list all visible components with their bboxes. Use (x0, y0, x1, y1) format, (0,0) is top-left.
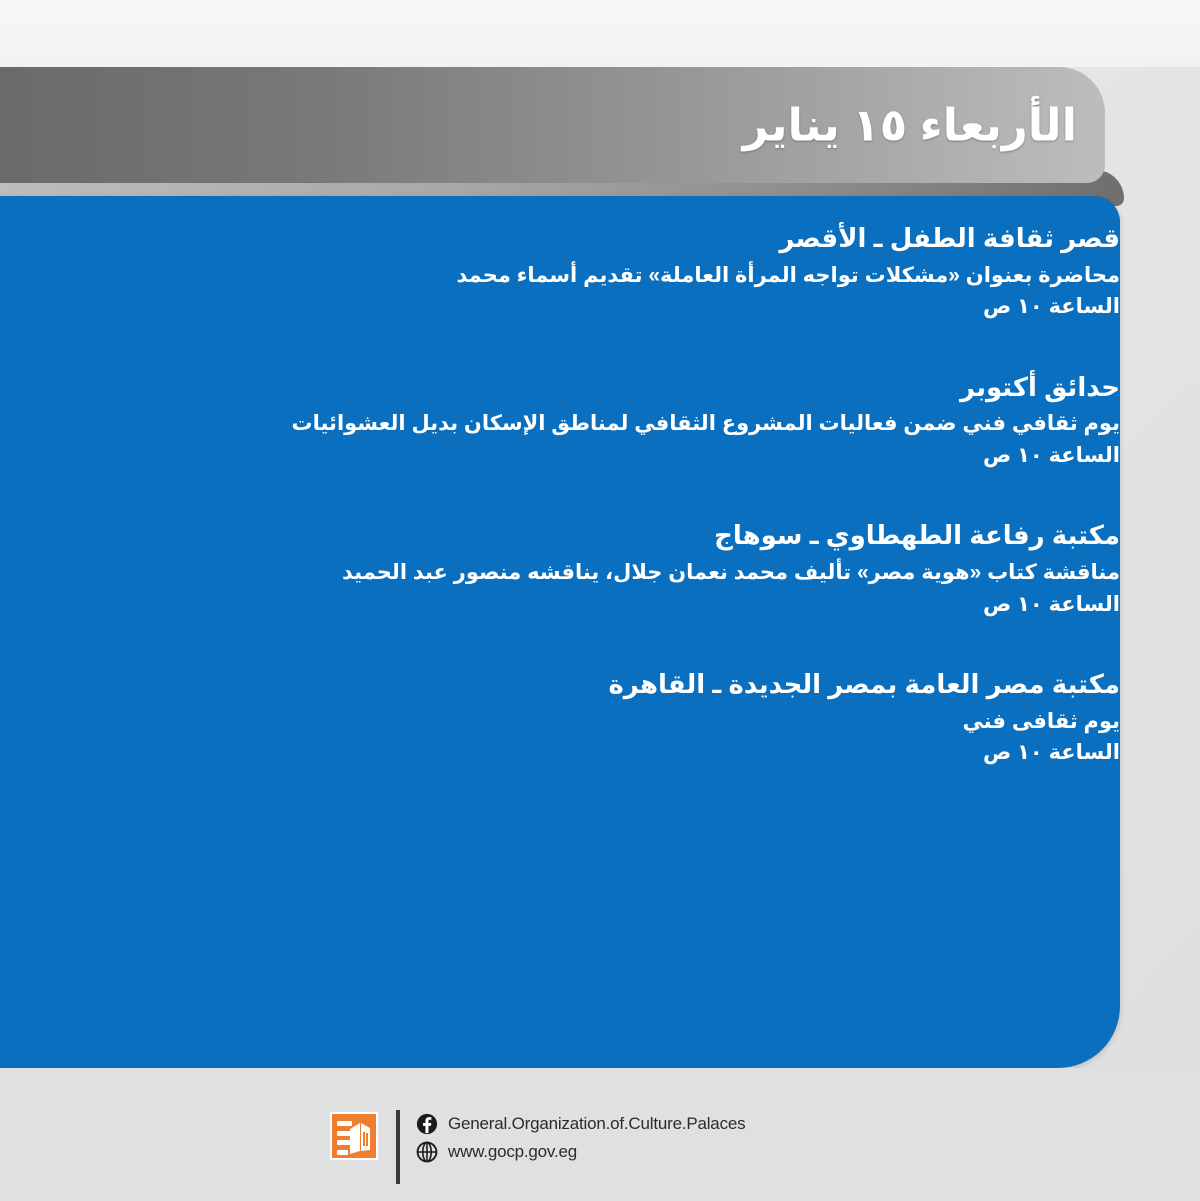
footer-facebook-row[interactable]: General.Organization.of.Culture.Palaces (416, 1113, 745, 1135)
footer: General.Organization.of.Culture.Palaces … (0, 1068, 1200, 1201)
event-item: مكتبة مصر العامة بمصر الجديدة ـ القاهرة … (0, 666, 1120, 769)
header-date-title: الأربعاء ١٥ يناير (743, 99, 1077, 152)
event-venue: قصر ثقافة الطفل ـ الأقصر (40, 220, 1120, 258)
top-white-band (0, 0, 1200, 67)
facebook-icon (416, 1113, 438, 1135)
logo-book-building-glyph (348, 1120, 372, 1156)
footer-links: General.Organization.of.Culture.Palaces … (416, 1110, 745, 1163)
event-time: الساعة ١٠ ص (40, 737, 1120, 769)
footer-content: General.Organization.of.Culture.Palaces … (330, 1110, 745, 1184)
website-text: www.gocp.gov.eg (448, 1142, 577, 1162)
event-description: يوم ثقافى فني (40, 706, 1120, 738)
event-time: الساعة ١٠ ص (40, 440, 1120, 472)
event-description: يوم ثقافي فني ضمن فعاليات المشروع الثقاف… (40, 408, 1120, 440)
footer-website-row[interactable]: www.gocp.gov.eg (416, 1141, 745, 1163)
facebook-handle-text: General.Organization.of.Culture.Palaces (448, 1114, 745, 1134)
event-description: مناقشة كتاب «هوية مصر» تأليف محمد نعمان … (40, 557, 1120, 589)
header-date-bar: الأربعاء ١٥ يناير (0, 67, 1105, 183)
event-item: مكتبة رفاعة الطهطاوي ـ سوهاج مناقشة كتاب… (0, 517, 1120, 620)
globe-icon (416, 1141, 438, 1163)
event-venue: مكتبة رفاعة الطهطاوي ـ سوهاج (40, 517, 1120, 555)
event-description: محاضرة بعنوان «مشكلات تواجه المرأة العام… (40, 260, 1120, 292)
event-time: الساعة ١٠ ص (40, 589, 1120, 621)
poster-canvas: الأربعاء ١٥ يناير قصر ثقافة الطفل ـ الأق… (0, 0, 1200, 1201)
event-venue: حدائق أكتوبر (40, 369, 1120, 407)
event-time: الساعة ١٠ ص (40, 291, 1120, 323)
gocp-logo-icon (330, 1112, 378, 1160)
event-item: قصر ثقافة الطفل ـ الأقصر محاضرة بعنوان «… (0, 220, 1120, 323)
footer-divider (396, 1110, 400, 1184)
event-item: حدائق أكتوبر يوم ثقافي فني ضمن فعاليات ا… (0, 369, 1120, 472)
event-venue: مكتبة مصر العامة بمصر الجديدة ـ القاهرة (40, 666, 1120, 704)
events-panel: قصر ثقافة الطفل ـ الأقصر محاضرة بعنوان «… (0, 196, 1120, 1068)
